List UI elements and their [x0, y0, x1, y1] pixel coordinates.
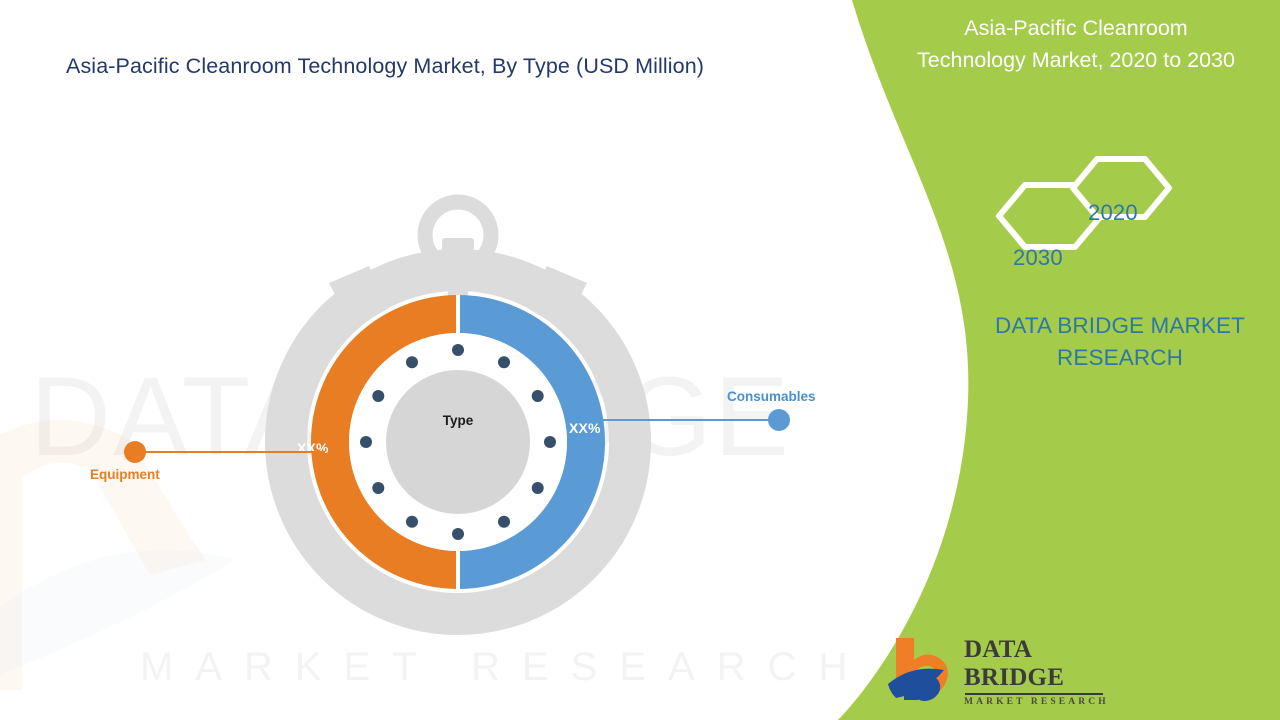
logo-title: DATA BRIDGE: [964, 636, 1111, 692]
callout-marker-dot: [124, 441, 146, 463]
callout-marker-dot: [768, 409, 790, 431]
callout-leader-line: [595, 419, 779, 421]
dial-hub: [386, 370, 530, 514]
slice-value-equipment: XX%: [297, 440, 329, 456]
year-hexagons: 2020 2030: [985, 140, 1185, 285]
hexagon-year-2030: 2030: [1013, 245, 1063, 271]
panel-heading-line2: Technology Market, 2020 to 2030: [880, 44, 1272, 76]
slice-divider-top: [456, 295, 460, 333]
page-title: Asia-Pacific Cleanroom Technology Market…: [66, 54, 704, 79]
callout-leader-line: [135, 451, 325, 453]
panel-heading-line1: Asia-Pacific Cleanroom: [880, 12, 1272, 44]
logo-subtitle: MARKET RESEARCH: [964, 697, 1111, 707]
slide-canvas: DATA BRIDGE MARKET RESEARCH Asia-Pacific…: [0, 0, 1280, 720]
slice-value-consumables: XX%: [569, 420, 601, 436]
brand-name-line2: RESEARCH: [955, 342, 1280, 374]
brand-name-line1: DATA BRIDGE MARKET: [955, 310, 1280, 342]
brand-name: DATA BRIDGE MARKET RESEARCH: [955, 310, 1280, 374]
data-bridge-mark-icon: [886, 630, 960, 704]
logo-divider: [965, 693, 1103, 695]
slice-divider-bottom: [456, 551, 460, 589]
company-logo: DATA BRIDGE MARKET RESEARCH: [886, 628, 1111, 704]
callout-label-equipment: Equipment: [90, 467, 160, 482]
panel-heading: Asia-Pacific Cleanroom Technology Market…: [880, 12, 1272, 76]
hexagon-year-2020: 2020: [1088, 200, 1138, 226]
callout-label-consumables: Consumables: [727, 389, 816, 404]
